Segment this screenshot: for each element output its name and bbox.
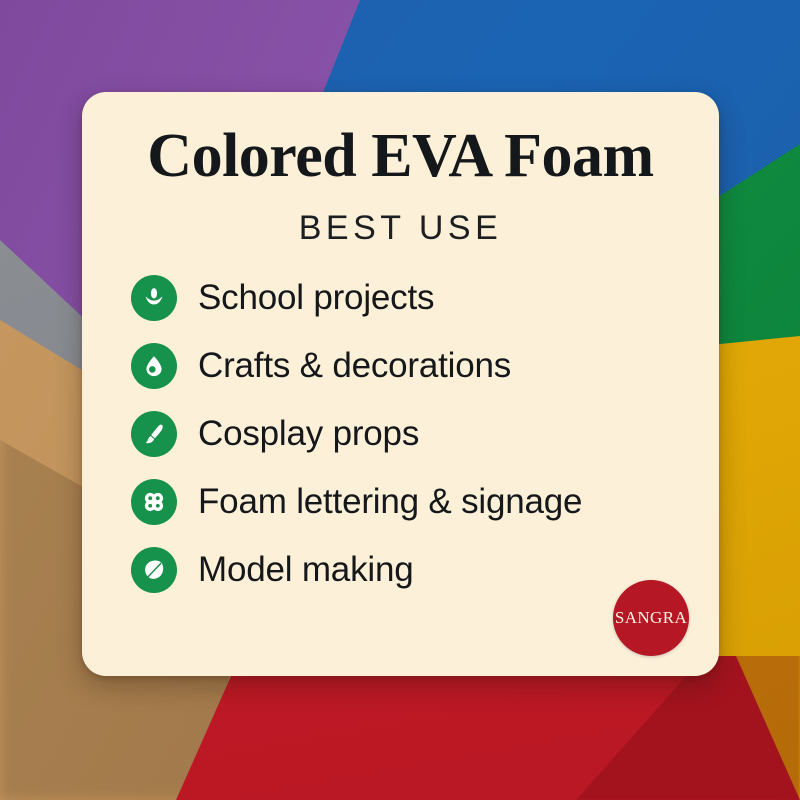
leaf-icon (131, 547, 177, 593)
list-item-label: Crafts & decorations (198, 346, 511, 386)
page-subtitle: BEST USE (82, 209, 719, 248)
list-item: Crafts & decorations (131, 340, 699, 392)
sprout-icon (131, 275, 177, 321)
list-item: Foam lettering & signage (131, 476, 699, 528)
list-item-label: Cosplay props (198, 414, 419, 454)
paintbrush-icon (131, 411, 177, 457)
list-item: Model making (131, 544, 699, 596)
page-title: Colored EVA Foam (82, 124, 719, 189)
brand-badge: SANGRA (613, 580, 689, 656)
list-item: School projects (131, 272, 699, 324)
benefit-list: School projects Crafts & decorations (131, 272, 699, 596)
flower-icon (131, 479, 177, 525)
product-infographic: Colored EVA Foam BEST USE School project… (0, 0, 800, 800)
list-item-label: Foam lettering & signage (198, 482, 582, 522)
brand-name: SANGRA (615, 608, 687, 628)
droplet-icon (131, 343, 177, 389)
list-item-label: Model making (198, 550, 413, 590)
list-item: Cosplay props (131, 408, 699, 460)
list-item-label: School projects (198, 278, 434, 318)
info-card: Colored EVA Foam BEST USE School project… (82, 92, 719, 676)
